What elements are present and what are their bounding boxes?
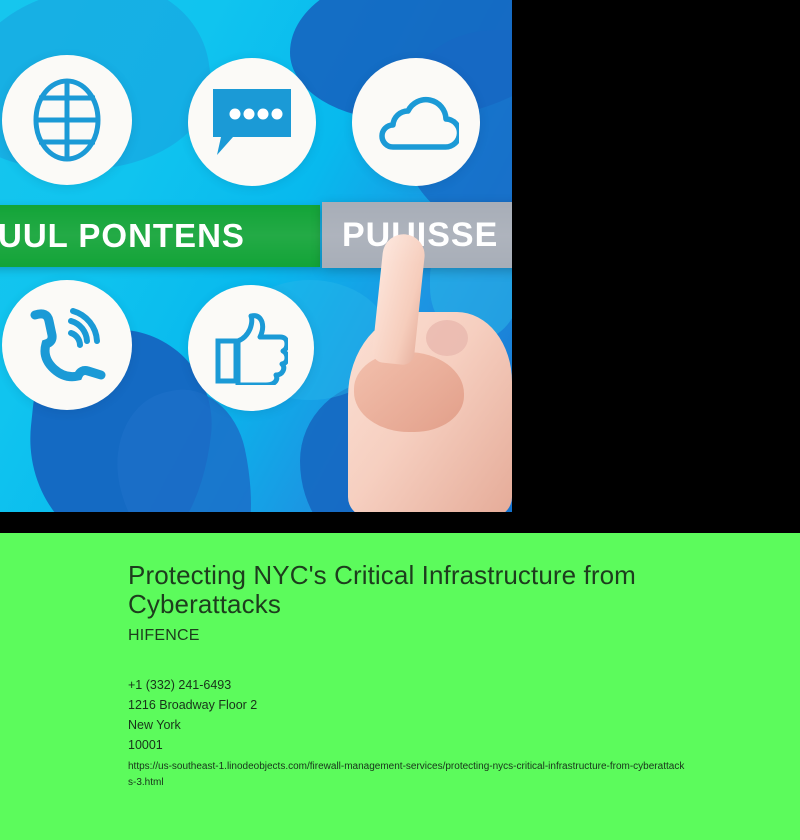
thumbs-up-icon: [214, 311, 288, 385]
chat-bubble-icon-badge: [188, 58, 316, 186]
globe-icon-badge: [2, 55, 132, 185]
contact-block: +1 (332) 241-6493 1216 Broadway Floor 2 …: [128, 675, 700, 791]
brand-name: HIFENCE: [128, 627, 700, 645]
contact-city: New York: [128, 715, 700, 735]
ringing-phone-icon-badge: [2, 280, 132, 410]
globe-icon: [30, 78, 104, 162]
contact-zip: 10001: [128, 735, 700, 755]
hand-thumb: [426, 320, 468, 356]
hero-banner-green: UUL PONTENS: [0, 205, 320, 267]
contact-phone[interactable]: +1 (332) 241-6493: [128, 675, 700, 695]
thumbs-up-icon-badge: [188, 285, 314, 411]
hand-knuckles: [354, 352, 464, 432]
ringing-phone-icon: [25, 303, 109, 387]
hero-image: UUL PONTENS PUUISSE: [0, 0, 512, 512]
chat-bubble-icon: [211, 87, 293, 157]
cloud-icon: [373, 92, 459, 152]
info-panel: Protecting NYC's Critical Infrastructure…: [0, 533, 800, 840]
hero-banner-green-label: UUL PONTENS: [0, 217, 245, 255]
cloud-icon-badge: [352, 58, 480, 186]
page-title: Protecting NYC's Critical Infrastructure…: [128, 561, 700, 619]
source-url[interactable]: https://us-southeast-1.linodeobjects.com…: [128, 759, 688, 791]
contact-address: 1216 Broadway Floor 2: [128, 695, 700, 715]
page-root: UUL PONTENS PUUISSE Protecting NYC's Cri…: [0, 0, 800, 840]
pointing-hand-illustration: [318, 232, 512, 512]
